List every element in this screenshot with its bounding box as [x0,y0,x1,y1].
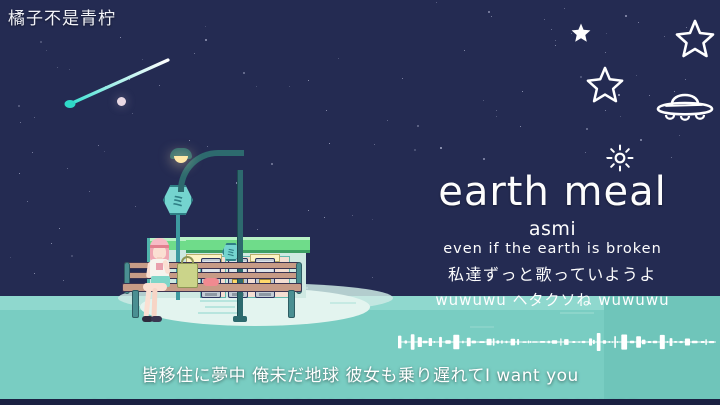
star-dot [32,152,33,153]
star-outline-icon-2 [585,65,625,105]
star-dot [640,139,642,141]
star-dot [522,91,523,92]
star-dot [636,75,637,76]
bench-leg-right [288,290,295,318]
star-dot [18,105,20,107]
hex-sign-small-glyph: ミ [224,245,238,259]
vending-tray [205,293,217,296]
floor-line [330,302,356,304]
star-dot [98,145,99,146]
subtitle-japanese: 私達ずっと歌っていようよ [400,261,705,285]
girl-leg-right [151,288,157,318]
star-dot [586,128,588,130]
star-dot [120,37,121,38]
star-dot [374,144,375,145]
star-dot [46,50,47,51]
star-dot [620,116,621,117]
star-dot [372,277,373,278]
star-dot [352,215,353,216]
tote-bag [177,263,198,288]
star-dot [387,120,388,121]
star-dot [679,135,680,136]
star-dot [496,116,497,117]
comet-icon [62,58,172,110]
star-dot [59,228,60,229]
star-dot [496,110,497,111]
store-awning [178,237,310,250]
star-dot [326,110,327,111]
lamp-pole [237,170,243,322]
star-dot [414,149,416,151]
star-dot [417,125,419,127]
star-dot [436,2,437,3]
lyric-line-1: 皆移住に夢中 俺未だ地球 彼女も乗り遅れてI want you [0,361,720,386]
star-outline-icon [674,18,716,60]
channel-watermark: 橘子不是青柠 [8,4,116,29]
audio-waveform[interactable] [398,330,716,354]
star-dot [638,22,639,23]
star-dot [324,217,325,218]
star-dot [20,122,21,123]
star-dot [135,206,136,207]
star-dot [605,110,606,111]
floor-line [198,312,240,314]
cushion [203,278,219,286]
star-dot [464,50,465,51]
floor-line [200,300,238,302]
subtitle-japanese-2: wuwuwu ヘタクソね wuwuwu [400,289,705,310]
star-dot [671,157,672,158]
floor-line [560,312,594,314]
star-filled-icon [570,22,592,44]
video-frame: ミ ミ earth meal asmi even if the earth is… [0,0,720,405]
star-dot [34,117,35,118]
bottom-letterbox [0,399,720,405]
star-dot [402,78,403,79]
bench-leg-left [132,290,139,318]
lamp-base [233,316,247,322]
floor-line [470,326,494,328]
store-awning-shadow [178,250,310,253]
floor-line [205,306,235,308]
star-dot [329,143,330,144]
star-dot [483,158,485,160]
ufo-icon [652,82,718,132]
star-dot [338,58,339,59]
star-dot [625,15,627,17]
girl-sandal-right [151,316,162,322]
star-dot [491,16,492,17]
artist-name: asmi [400,218,705,240]
star-dot [256,86,257,87]
girl-shirt-logo [156,263,163,270]
star-dot [10,257,11,258]
song-title: earth meal [400,172,705,212]
star-dot [544,19,545,20]
song-info-block: earth meal asmi even if the earth is bro… [400,172,705,310]
girl-hair-band [150,245,169,248]
vending-tray [259,293,271,296]
star-dot [372,219,373,220]
subtitle-english: even if the earth is broken [400,241,705,257]
star-dot [71,255,73,257]
